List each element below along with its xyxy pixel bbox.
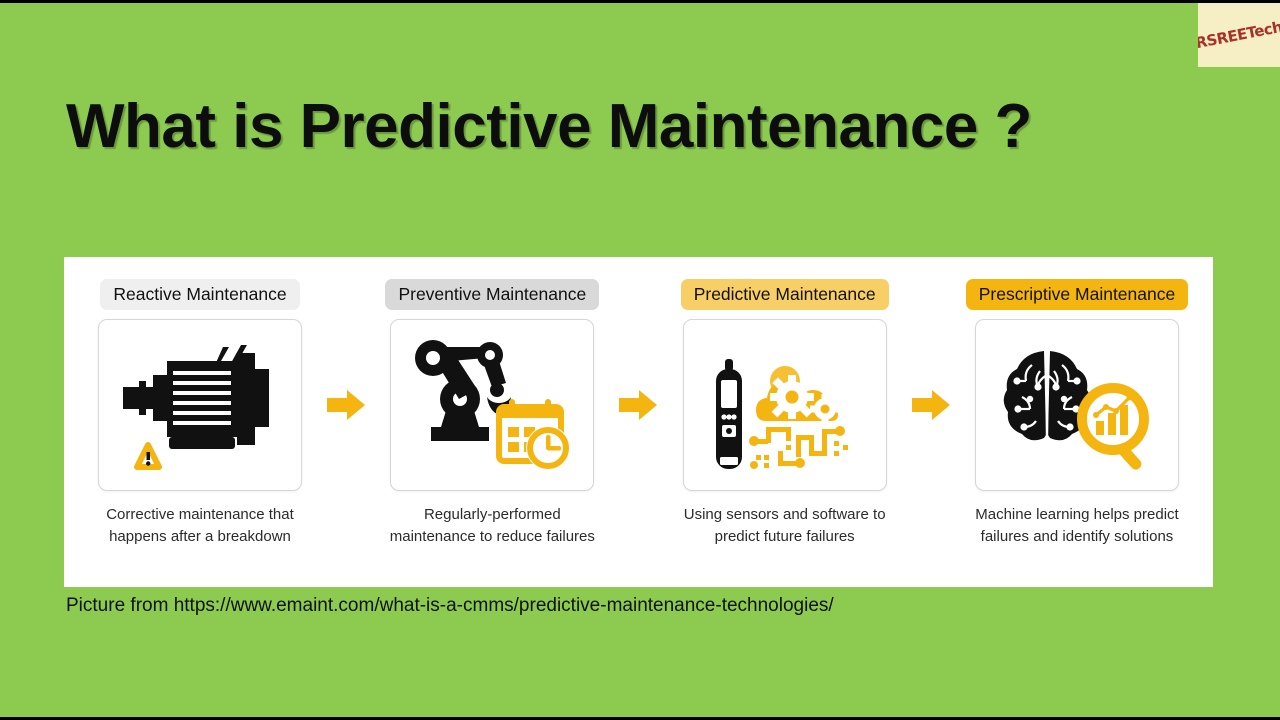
stage-preventive-maintenance[interactable]: Preventive Maintenance bbox=[378, 279, 606, 548]
stage-prescriptive-maintenance[interactable]: Prescriptive Maintenance bbox=[963, 279, 1191, 548]
arrow-right-icon bbox=[325, 388, 367, 422]
robot-arm-calendar-clock-icon bbox=[407, 335, 577, 475]
electric-motor-warning-icon bbox=[115, 335, 285, 475]
caption-predictive-maintenance: Using sensors and software to predict fu… bbox=[675, 504, 895, 548]
caption-reactive-maintenance: Corrective maintenance that happens afte… bbox=[90, 504, 310, 548]
card-preventive-maintenance bbox=[390, 319, 594, 491]
maintenance-flow: Reactive Maintenance bbox=[64, 257, 1213, 587]
badge-prescriptive-maintenance: Prescriptive Maintenance bbox=[966, 279, 1188, 310]
flow-arrow-1 bbox=[314, 279, 378, 489]
badge-predictive-maintenance: Predictive Maintenance bbox=[681, 279, 889, 310]
flow-arrow-3 bbox=[899, 279, 963, 489]
badge-reactive-maintenance: Reactive Maintenance bbox=[100, 279, 299, 310]
card-prescriptive-maintenance bbox=[975, 319, 1179, 491]
badge-preventive-maintenance: Preventive Maintenance bbox=[385, 279, 599, 310]
page-title: What is Predictive Maintenance ? bbox=[66, 91, 1032, 162]
caption-prescriptive-maintenance: Machine learning helps predict failures … bbox=[967, 504, 1187, 548]
stage-predictive-maintenance[interactable]: Predictive Maintenance bbox=[671, 279, 899, 548]
arrow-right-icon bbox=[617, 388, 659, 422]
brand-logo-text: RSREETech bbox=[1198, 18, 1280, 52]
handheld-sensor-cloud-gears-icon bbox=[700, 335, 870, 475]
maintenance-flow-panel: Reactive Maintenance bbox=[64, 257, 1213, 587]
card-predictive-maintenance bbox=[683, 319, 887, 491]
ai-brain-magnifier-chart-icon bbox=[992, 335, 1162, 475]
flow-arrow-2 bbox=[606, 279, 670, 489]
arrow-right-icon bbox=[910, 388, 952, 422]
caption-preventive-maintenance: Regularly-performed maintenance to reduc… bbox=[382, 504, 602, 548]
image-source-attribution: Picture from https://www.emaint.com/what… bbox=[66, 595, 834, 617]
brand-logo: RSREETech bbox=[1198, 3, 1280, 67]
stage-reactive-maintenance[interactable]: Reactive Maintenance bbox=[86, 279, 314, 548]
card-reactive-maintenance bbox=[98, 319, 302, 491]
